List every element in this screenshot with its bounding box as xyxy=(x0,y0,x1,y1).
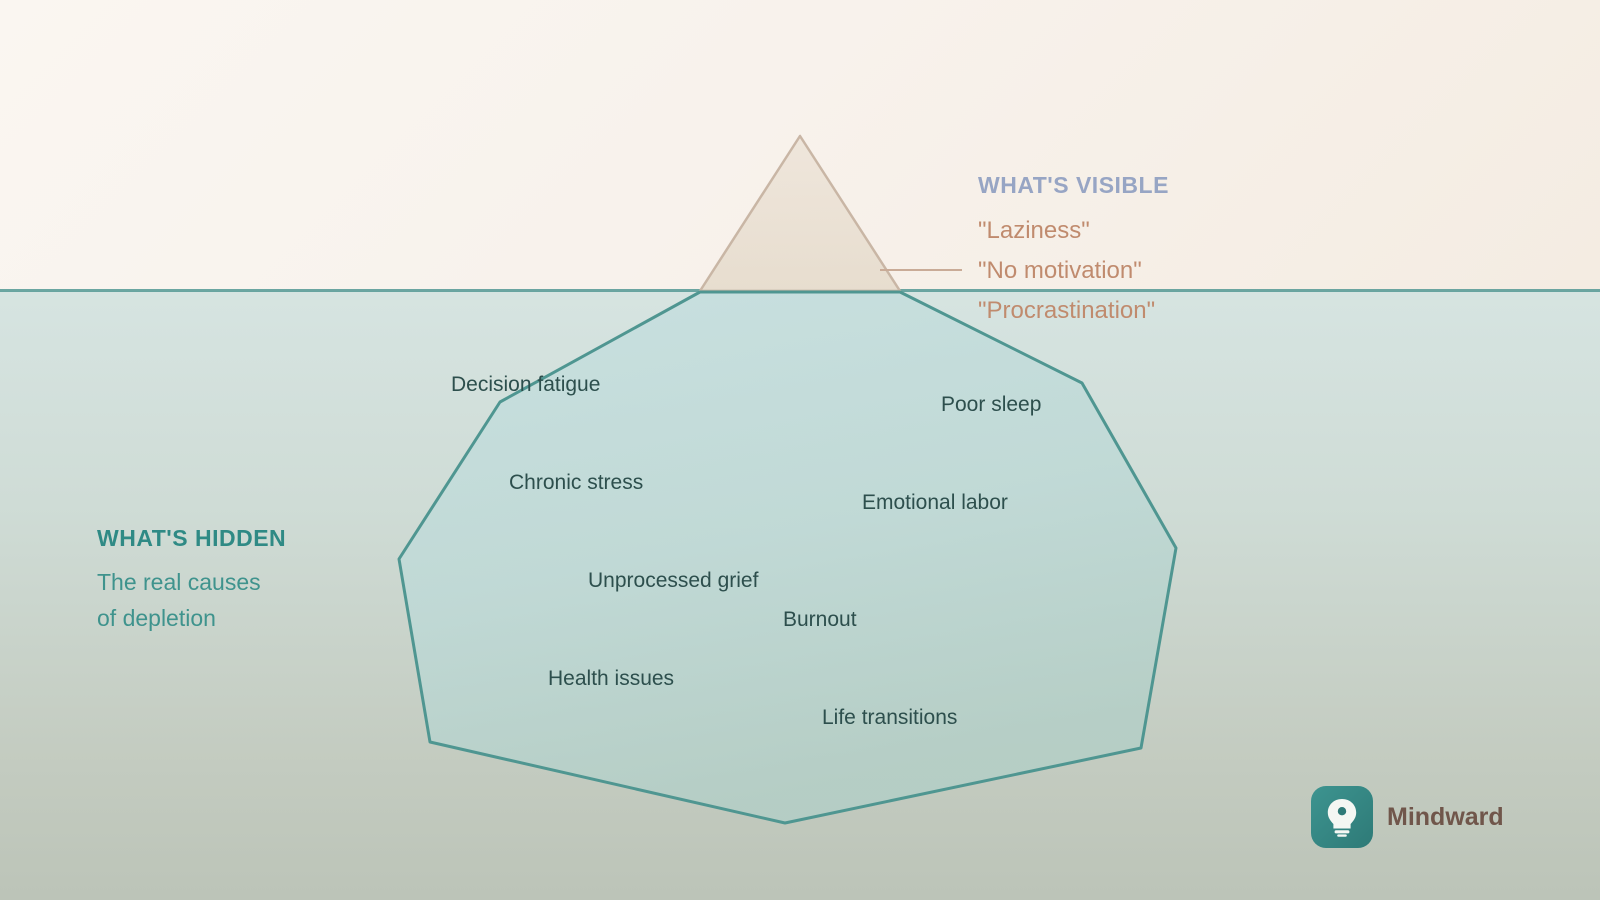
iceberg-label: Unprocessed grief xyxy=(588,569,758,593)
iceberg-label: Life transitions xyxy=(822,706,957,730)
hidden-callout: WHAT'S HIDDEN The real causes of depleti… xyxy=(97,525,286,636)
iceberg-body xyxy=(399,292,1176,823)
iceberg-label: Health issues xyxy=(548,667,674,691)
iceberg-label: Burnout xyxy=(783,608,857,632)
iceberg-tip xyxy=(700,136,900,291)
visible-item-2: "Procrastination" xyxy=(978,291,1169,331)
iceberg-label: Decision fatigue xyxy=(451,373,600,397)
iceberg-infographic: WHAT'S VISIBLE "Laziness" "No motivation… xyxy=(0,0,1600,900)
iceberg-shape xyxy=(0,0,1600,900)
iceberg-label: Emotional labor xyxy=(862,491,1008,515)
visible-callout-heading: WHAT'S VISIBLE xyxy=(978,172,1169,199)
hidden-line-1: of depletion xyxy=(97,600,286,636)
brand-lockup: Mindward xyxy=(1311,786,1504,848)
brand-name: Mindward xyxy=(1387,803,1504,832)
iceberg-label: Poor sleep xyxy=(941,393,1041,417)
hidden-callout-heading: WHAT'S HIDDEN xyxy=(97,525,286,552)
visible-callout: WHAT'S VISIBLE "Laziness" "No motivation… xyxy=(978,172,1169,331)
lightbulb-icon xyxy=(1325,797,1359,837)
visible-item-0: "Laziness" xyxy=(978,211,1169,251)
iceberg-label: Chronic stress xyxy=(509,471,643,495)
brand-mark xyxy=(1311,786,1373,848)
visible-item-1: "No motivation" xyxy=(978,251,1169,291)
hidden-line-0: The real causes xyxy=(97,564,286,600)
visible-callout-connector xyxy=(880,269,962,271)
